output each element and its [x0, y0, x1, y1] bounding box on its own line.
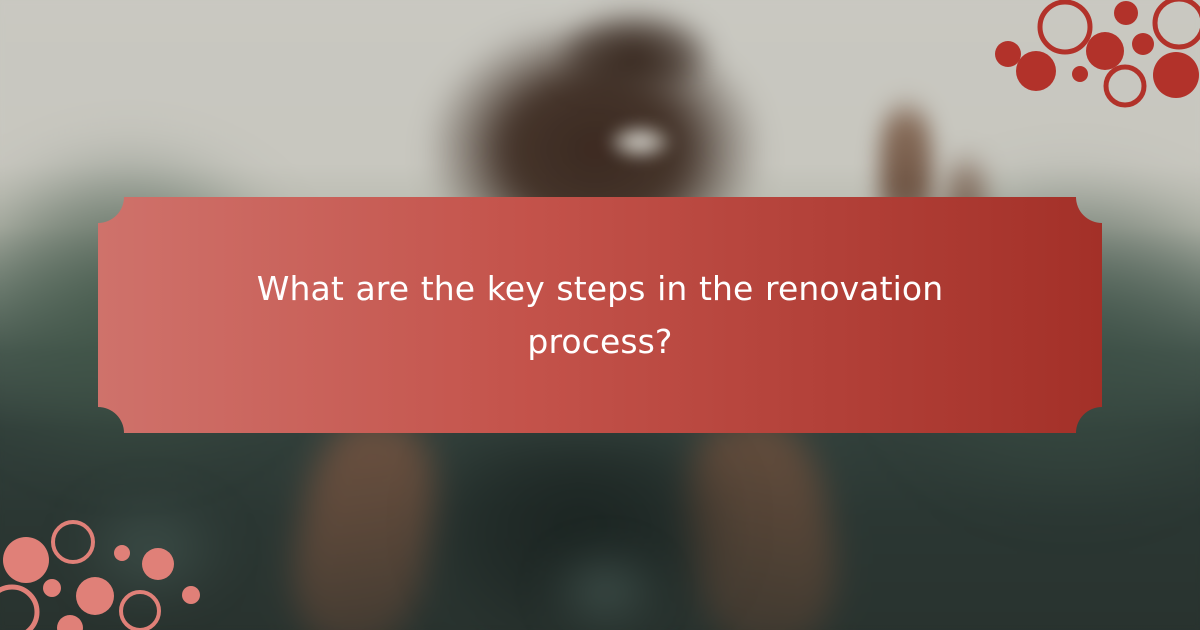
camera-pentaprism	[560, 8, 710, 88]
circle-cluster-top-right-svg	[980, 0, 1200, 116]
decorative-dot	[114, 545, 130, 561]
decorative-dot	[43, 579, 61, 597]
decorative-dot	[76, 577, 114, 615]
decorative-dot	[57, 615, 83, 630]
decorative-ring	[1040, 2, 1090, 52]
decorative-dot	[1114, 1, 1138, 25]
decorative-ring	[1106, 67, 1144, 105]
decorative-ring	[0, 587, 37, 630]
decorative-dot	[1132, 33, 1154, 55]
decorative-ring	[1155, 0, 1200, 47]
teal-highlight-center	[520, 530, 690, 630]
decorative-dot	[1072, 66, 1088, 82]
camera-lens-highlight	[606, 123, 674, 161]
headline-banner: What are the key steps in the renovation…	[98, 197, 1102, 433]
decorative-dot	[142, 548, 174, 580]
decorative-dot	[1016, 51, 1056, 91]
decorative-dot	[1153, 52, 1199, 98]
circle-cluster-bottom-left-svg	[0, 515, 220, 630]
decorative-dot	[995, 41, 1021, 67]
circle-cluster-bottom-left	[0, 515, 220, 630]
decorative-dot	[1086, 32, 1124, 70]
decorative-dot	[3, 537, 49, 583]
headline-text: What are the key steps in the renovation…	[220, 262, 980, 369]
decorative-dot	[182, 586, 200, 604]
share-card-canvas: What are the key steps in the renovation…	[0, 0, 1200, 630]
circle-cluster-top-right	[980, 0, 1200, 116]
decorative-ring	[53, 522, 93, 562]
decorative-ring	[121, 592, 159, 630]
